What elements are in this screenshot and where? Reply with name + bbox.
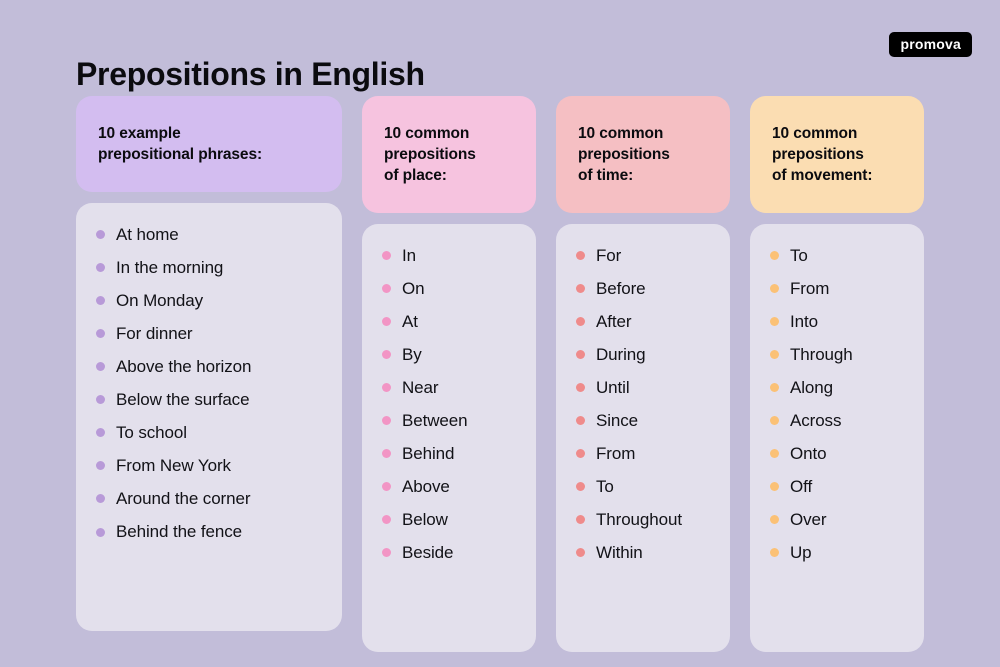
bullet-dot-icon bbox=[382, 317, 391, 326]
column-header-time: 10 common prepositions of time: bbox=[556, 96, 730, 213]
columns-container: 10 example prepositional phrases:At home… bbox=[76, 96, 924, 652]
bullet-dot-icon bbox=[576, 383, 585, 392]
bullet-dot-icon bbox=[576, 350, 585, 359]
bullet-dot-icon bbox=[96, 263, 105, 272]
column-header-place: 10 common prepositions of place: bbox=[362, 96, 536, 213]
bullet-dot-icon bbox=[576, 515, 585, 524]
list-item: Into bbox=[770, 312, 904, 332]
list-item: Along bbox=[770, 378, 904, 398]
list-item-label: From bbox=[596, 444, 635, 464]
bullet-dot-icon bbox=[96, 494, 105, 503]
list-item-label: To school bbox=[116, 423, 187, 443]
column-list-card-place: InOnAtByNearBetweenBehindAboveBelowBesid… bbox=[362, 224, 536, 652]
list-item: On bbox=[382, 279, 516, 299]
column-time: 10 common prepositions of time:ForBefore… bbox=[556, 96, 730, 652]
list-item: In bbox=[382, 246, 516, 266]
list-item-label: Throughout bbox=[596, 510, 682, 530]
list-item: Above bbox=[382, 477, 516, 497]
preposition-list-phrases: At homeIn the morningOn MondayFor dinner… bbox=[96, 225, 322, 542]
bullet-dot-icon bbox=[576, 317, 585, 326]
page-title: Prepositions in English bbox=[76, 55, 425, 93]
list-item-label: By bbox=[402, 345, 422, 365]
list-item-label: Between bbox=[402, 411, 467, 431]
list-item-label: During bbox=[596, 345, 645, 365]
list-item: Beside bbox=[382, 543, 516, 563]
promova-logo: promova bbox=[889, 32, 972, 57]
list-item: To bbox=[576, 477, 710, 497]
list-item-label: Onto bbox=[790, 444, 826, 464]
preposition-list-place: InOnAtByNearBetweenBehindAboveBelowBesid… bbox=[382, 246, 516, 563]
bullet-dot-icon bbox=[770, 416, 779, 425]
column-movement: 10 common prepositions of movement:ToFro… bbox=[750, 96, 924, 652]
list-item: Up bbox=[770, 543, 904, 563]
list-item-label: Across bbox=[790, 411, 841, 431]
bullet-dot-icon bbox=[96, 230, 105, 239]
bullet-dot-icon bbox=[382, 251, 391, 260]
bullet-dot-icon bbox=[770, 284, 779, 293]
bullet-dot-icon bbox=[382, 284, 391, 293]
list-item-label: Within bbox=[596, 543, 643, 563]
list-item-label: From New York bbox=[116, 456, 231, 476]
list-item: By bbox=[382, 345, 516, 365]
list-item-label: Around the corner bbox=[116, 489, 250, 509]
preposition-list-time: ForBeforeAfterDuringUntilSinceFromToThro… bbox=[576, 246, 710, 563]
list-item: Between bbox=[382, 411, 516, 431]
list-item-label: At home bbox=[116, 225, 179, 245]
list-item: From bbox=[770, 279, 904, 299]
bullet-dot-icon bbox=[770, 449, 779, 458]
list-item: For dinner bbox=[96, 324, 322, 344]
list-item-label: At bbox=[402, 312, 418, 332]
bullet-dot-icon bbox=[382, 482, 391, 491]
list-item: Through bbox=[770, 345, 904, 365]
list-item: For bbox=[576, 246, 710, 266]
column-header-movement: 10 common prepositions of movement: bbox=[750, 96, 924, 213]
column-header-label-phrases: 10 example prepositional phrases: bbox=[98, 124, 262, 166]
bullet-dot-icon bbox=[576, 416, 585, 425]
list-item-label: Below bbox=[402, 510, 448, 530]
list-item: Behind bbox=[382, 444, 516, 464]
list-item-label: Through bbox=[790, 345, 853, 365]
list-item: Before bbox=[576, 279, 710, 299]
bullet-dot-icon bbox=[96, 528, 105, 537]
list-item-label: Behind bbox=[402, 444, 454, 464]
list-item-label: Into bbox=[790, 312, 818, 332]
list-item-label: In the morning bbox=[116, 258, 223, 278]
bullet-dot-icon bbox=[770, 383, 779, 392]
bullet-dot-icon bbox=[382, 350, 391, 359]
bullet-dot-icon bbox=[576, 251, 585, 260]
bullet-dot-icon bbox=[382, 548, 391, 557]
list-item: Across bbox=[770, 411, 904, 431]
column-place: 10 common prepositions of place:InOnAtBy… bbox=[362, 96, 536, 652]
list-item: Below the surface bbox=[96, 390, 322, 410]
list-item-label: After bbox=[596, 312, 631, 332]
list-item-label: From bbox=[790, 279, 829, 299]
bullet-dot-icon bbox=[770, 515, 779, 524]
list-item: Near bbox=[382, 378, 516, 398]
list-item: From bbox=[576, 444, 710, 464]
list-item-label: On Monday bbox=[116, 291, 203, 311]
list-item: Around the corner bbox=[96, 489, 322, 509]
list-item-label: To bbox=[596, 477, 614, 497]
list-item-label: For dinner bbox=[116, 324, 192, 344]
list-item-label: Until bbox=[596, 378, 630, 398]
list-item: Over bbox=[770, 510, 904, 530]
bullet-dot-icon bbox=[96, 296, 105, 305]
column-phrases: 10 example prepositional phrases:At home… bbox=[76, 96, 342, 631]
bullet-dot-icon bbox=[576, 548, 585, 557]
bullet-dot-icon bbox=[770, 317, 779, 326]
bullet-dot-icon bbox=[382, 515, 391, 524]
list-item-label: Along bbox=[790, 378, 833, 398]
bullet-dot-icon bbox=[770, 251, 779, 260]
bullet-dot-icon bbox=[382, 449, 391, 458]
bullet-dot-icon bbox=[96, 362, 105, 371]
list-item: Since bbox=[576, 411, 710, 431]
bullet-dot-icon bbox=[770, 350, 779, 359]
column-header-label-time: 10 common prepositions of time: bbox=[578, 124, 670, 187]
column-list-card-time: ForBeforeAfterDuringUntilSinceFromToThro… bbox=[556, 224, 730, 652]
list-item-label: Since bbox=[596, 411, 638, 431]
list-item-label: Above the horizon bbox=[116, 357, 251, 377]
list-item: In the morning bbox=[96, 258, 322, 278]
list-item: To bbox=[770, 246, 904, 266]
list-item: Until bbox=[576, 378, 710, 398]
list-item: Within bbox=[576, 543, 710, 563]
bullet-dot-icon bbox=[96, 329, 105, 338]
bullet-dot-icon bbox=[96, 395, 105, 404]
list-item-label: Near bbox=[402, 378, 438, 398]
list-item: Onto bbox=[770, 444, 904, 464]
list-item-label: For bbox=[596, 246, 621, 266]
column-list-card-movement: ToFromIntoThroughAlongAcrossOntoOffOverU… bbox=[750, 224, 924, 652]
list-item-label: On bbox=[402, 279, 424, 299]
list-item: During bbox=[576, 345, 710, 365]
list-item-label: Beside bbox=[402, 543, 453, 563]
bullet-dot-icon bbox=[96, 428, 105, 437]
bullet-dot-icon bbox=[576, 284, 585, 293]
bullet-dot-icon bbox=[96, 461, 105, 470]
list-item: Behind the fence bbox=[96, 522, 322, 542]
list-item: After bbox=[576, 312, 710, 332]
list-item-label: Off bbox=[790, 477, 812, 497]
list-item-label: Before bbox=[596, 279, 646, 299]
list-item-label: In bbox=[402, 246, 416, 266]
bullet-dot-icon bbox=[576, 482, 585, 491]
bullet-dot-icon bbox=[770, 482, 779, 491]
list-item-label: Below the surface bbox=[116, 390, 249, 410]
column-list-card-phrases: At homeIn the morningOn MondayFor dinner… bbox=[76, 203, 342, 631]
list-item-label: To bbox=[790, 246, 808, 266]
list-item: At bbox=[382, 312, 516, 332]
column-header-label-place: 10 common prepositions of place: bbox=[384, 124, 476, 187]
bullet-dot-icon bbox=[770, 548, 779, 557]
list-item-label: Up bbox=[790, 543, 812, 563]
list-item: Off bbox=[770, 477, 904, 497]
preposition-list-movement: ToFromIntoThroughAlongAcrossOntoOffOverU… bbox=[770, 246, 904, 563]
list-item: Throughout bbox=[576, 510, 710, 530]
column-header-label-movement: 10 common prepositions of movement: bbox=[772, 124, 872, 187]
list-item: Above the horizon bbox=[96, 357, 322, 377]
bullet-dot-icon bbox=[382, 416, 391, 425]
list-item: To school bbox=[96, 423, 322, 443]
list-item: From New York bbox=[96, 456, 322, 476]
list-item-label: Over bbox=[790, 510, 826, 530]
list-item-label: Above bbox=[402, 477, 450, 497]
list-item: At home bbox=[96, 225, 322, 245]
list-item: Below bbox=[382, 510, 516, 530]
list-item-label: Behind the fence bbox=[116, 522, 242, 542]
column-header-phrases: 10 example prepositional phrases: bbox=[76, 96, 342, 192]
bullet-dot-icon bbox=[576, 449, 585, 458]
list-item: On Monday bbox=[96, 291, 322, 311]
bullet-dot-icon bbox=[382, 383, 391, 392]
